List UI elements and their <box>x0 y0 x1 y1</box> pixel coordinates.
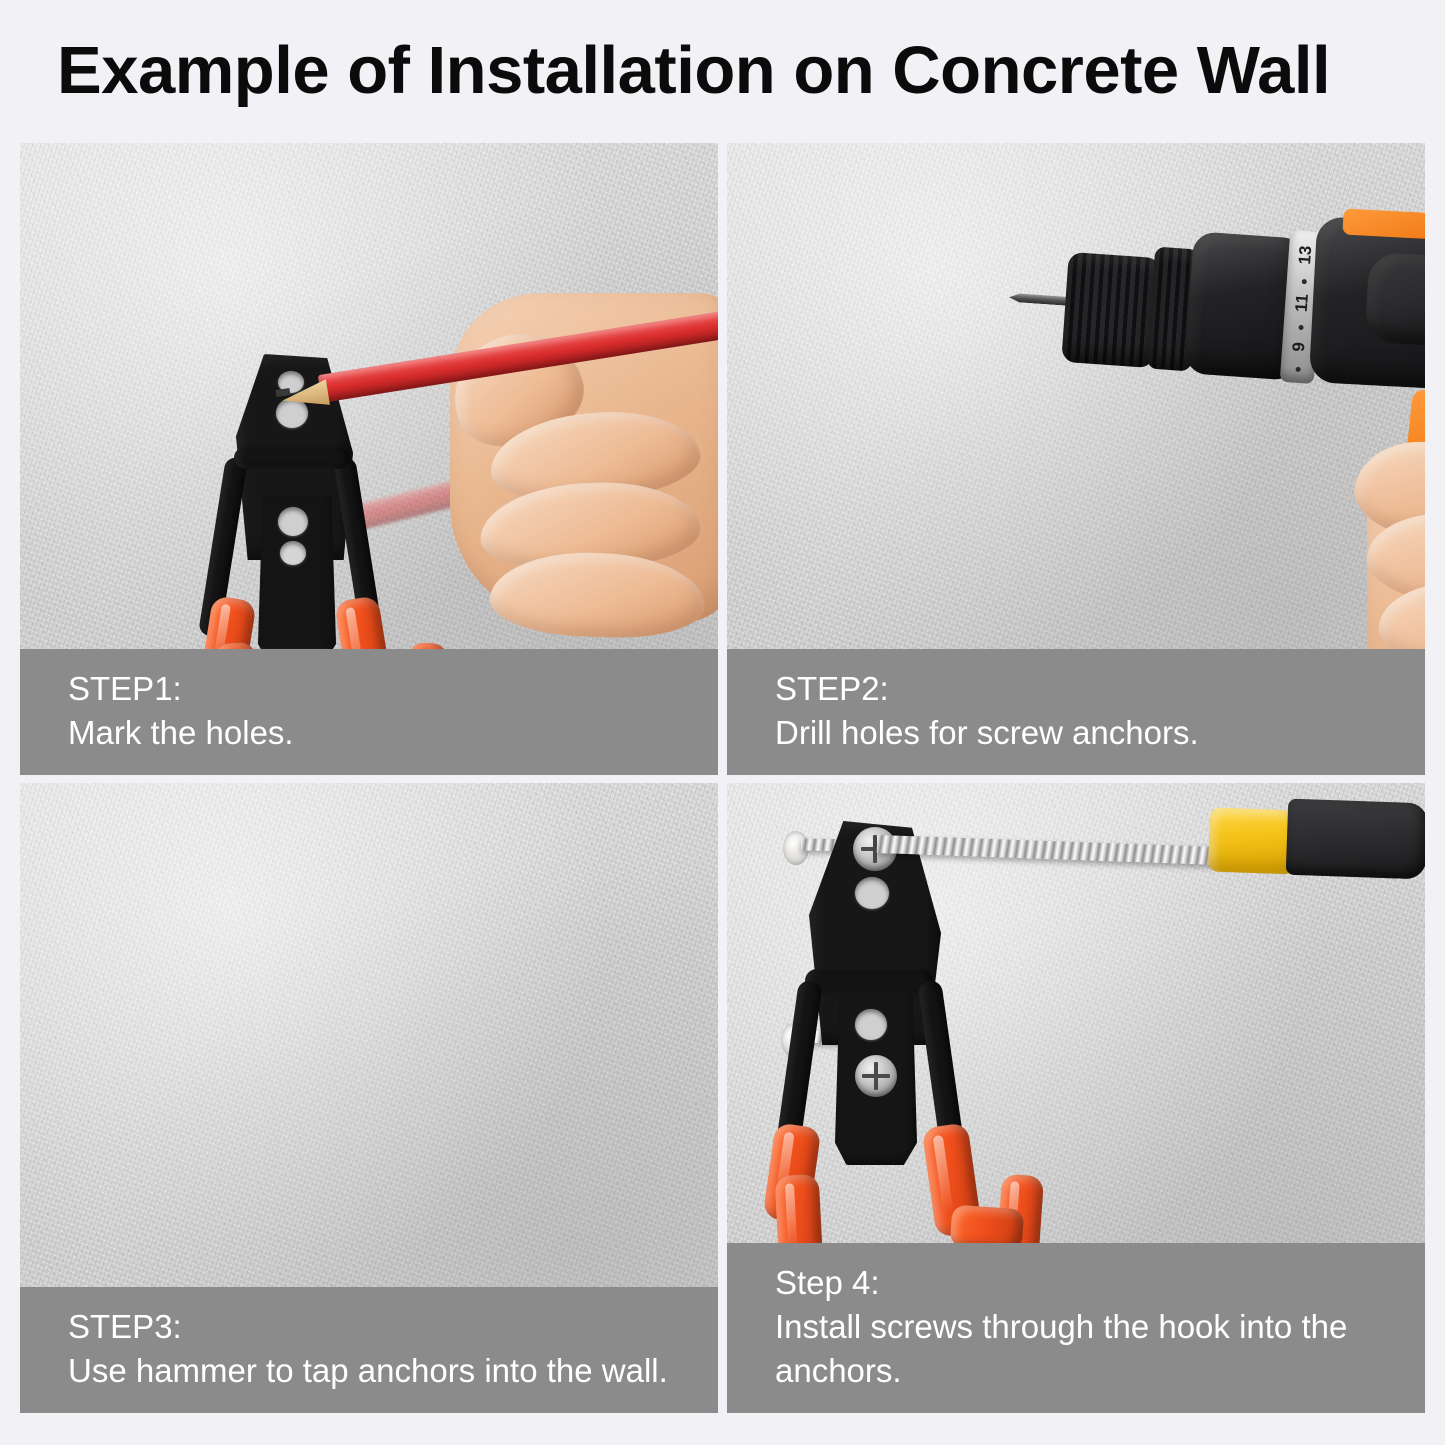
steps-grid: STEP1: Mark the holes. 13 11 <box>20 143 1425 1413</box>
clutch-number-11: 11 <box>1291 287 1313 318</box>
hook-bridge <box>805 969 933 993</box>
hook-hole-third <box>855 1009 887 1040</box>
drill-grip-panel <box>1365 252 1425 348</box>
installation-guide-page: Example of Installation on Concrete Wall <box>0 0 1445 1445</box>
screw-slot-4 <box>874 1062 878 1090</box>
step-panel-2: 13 11 9 <box>727 143 1425 775</box>
step-2-instruction: Drill holes for screw anchors. <box>775 711 1425 755</box>
hook-hole-bottom <box>280 541 306 565</box>
step-1-instruction: Mark the holes. <box>68 711 718 755</box>
step-1-caption: STEP1: Mark the holes. <box>20 649 718 775</box>
step-4-instruction: Install screws through the hook into the… <box>775 1305 1425 1393</box>
step-1-label: STEP1: <box>68 667 718 711</box>
step-4-label: Step 4: <box>775 1261 1425 1305</box>
clutch-dot-2 <box>1298 325 1303 330</box>
hook-bridge <box>234 447 350 469</box>
clutch-number-13: 13 <box>1295 239 1317 270</box>
clutch-number-9: 9 <box>1288 331 1310 362</box>
hook-hole-second <box>855 877 889 909</box>
step-3-caption: STEP3: Use hammer to tap anchors into th… <box>20 1287 718 1413</box>
screwdriver-handle-grip <box>1286 799 1425 880</box>
clutch-dot-1 <box>1302 279 1307 284</box>
step-2-caption: STEP2: Drill holes for screw anchors. <box>727 649 1425 775</box>
step-2-label: STEP2: <box>775 667 1425 711</box>
clutch-dot-3 <box>1295 367 1300 372</box>
step-4-caption: Step 4: Install screws through the hook … <box>727 1243 1425 1413</box>
drill-top-accent <box>1342 209 1425 240</box>
step-3-label: STEP3: <box>68 1305 718 1349</box>
step-panel-1: STEP1: Mark the holes. <box>20 143 718 775</box>
hook-hole-third <box>278 507 308 536</box>
drill-chuck <box>1061 252 1160 368</box>
page-title: Example of Installation on Concrete Wall <box>57 28 1402 114</box>
step-3-instruction: Use hammer to tap anchors into the wall. <box>68 1349 718 1393</box>
screw-head-lower <box>855 1055 897 1097</box>
hook-hole-second <box>276 398 308 428</box>
step-panel-3: STEP3: Use hammer to tap anchors into th… <box>20 783 718 1413</box>
step-panel-4: Step 4: Install screws through the hook … <box>727 783 1425 1413</box>
